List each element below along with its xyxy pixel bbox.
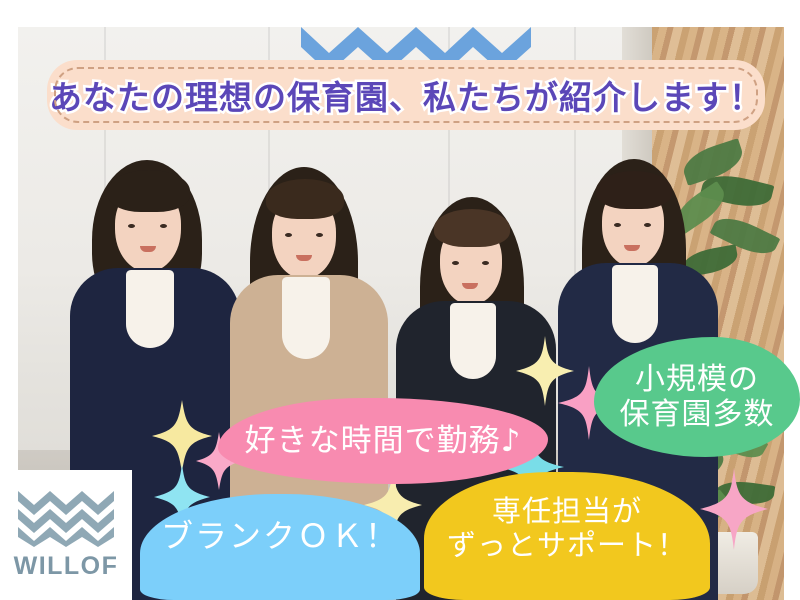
fringe [596, 171, 672, 209]
fringe [434, 209, 510, 247]
inner-shirt [282, 277, 330, 359]
callout-flexible-hours-line1: 好きな時間で勤務♪ [245, 423, 522, 460]
eye [316, 233, 323, 237]
callout-small-nursery-line1: 小規模の [620, 362, 775, 397]
eye [128, 224, 135, 228]
callout-blank-ok-line1: ブランクＯＫ！ [161, 518, 399, 556]
inner-shirt [612, 265, 658, 343]
headline-banner: あなたの理想の保育園、私たちが紹介します！ [47, 60, 765, 130]
sparkle-pink-right-icon [700, 468, 768, 550]
chevron-zigzag-icon [18, 489, 114, 547]
headline-text: あなたの理想の保育園、私たちが紹介します！ [47, 60, 765, 130]
callout-blank-ok: ブランクＯＫ！ [140, 494, 420, 600]
callout-dedicated-support-line1: 専任担当が [447, 494, 687, 528]
fringe [266, 179, 344, 219]
eye [482, 261, 489, 265]
recruitment-ad-banner: WILLOF [0, 0, 800, 600]
willof-logo-wordmark: WILLOF [14, 552, 119, 581]
eye [160, 224, 167, 228]
callout-small-nursery-line2: 保育園多数 [620, 397, 775, 432]
callout-dedicated-support-line2: ずっとサポート！ [447, 528, 687, 562]
eye [452, 261, 459, 265]
callout-flexible-hours: 好きな時間で勤務♪ [218, 398, 548, 484]
willof-logo-card: WILLOF [0, 470, 132, 600]
eye [285, 233, 292, 237]
inner-shirt [450, 303, 496, 379]
eye [644, 223, 651, 227]
inner-shirt [126, 270, 174, 348]
eye [614, 223, 621, 227]
fringe [108, 170, 190, 212]
callout-dedicated-support: 専任担当が ずっとサポート！ [424, 472, 710, 600]
